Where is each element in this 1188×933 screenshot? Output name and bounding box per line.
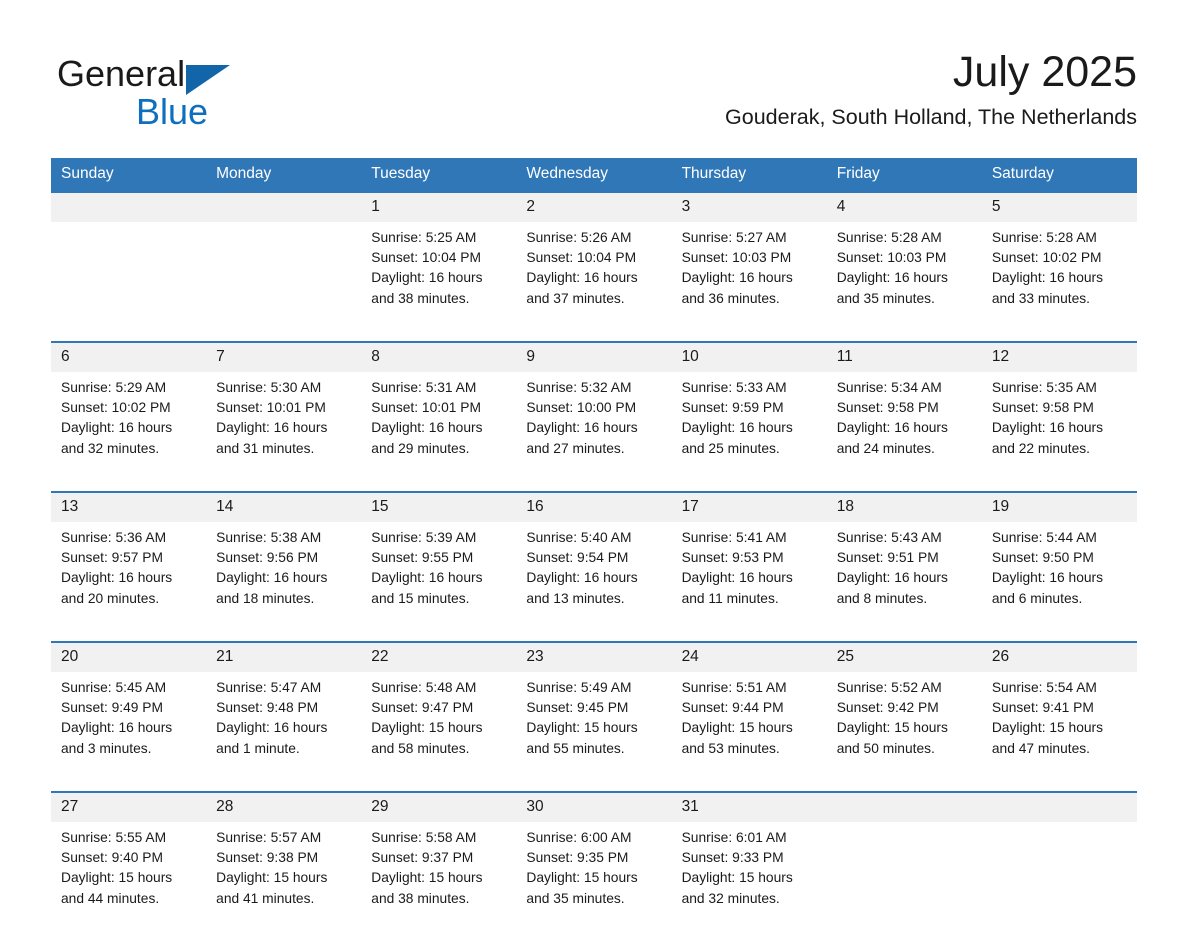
sunset-text: Sunset: 10:02 PM <box>61 398 198 418</box>
sunset-text: Sunset: 9:51 PM <box>837 548 974 568</box>
day-cell[interactable]: Sunrise: 5:33 AMSunset: 9:59 PMDaylight:… <box>672 372 827 483</box>
sunrise-text: Sunrise: 5:51 AM <box>682 678 819 698</box>
daylight-text-line2: and 18 minutes. <box>216 589 353 609</box>
daylight-text-line1: Daylight: 16 hours <box>526 418 663 438</box>
day-cell[interactable]: Sunrise: 5:29 AMSunset: 10:02 PMDaylight… <box>51 372 206 483</box>
day-cell[interactable]: Sunrise: 5:25 AMSunset: 10:04 PMDaylight… <box>361 222 516 333</box>
sunrise-text: Sunrise: 5:54 AM <box>992 678 1129 698</box>
day-number-cell[interactable]: 29 <box>361 793 516 822</box>
day-number-cell[interactable]: 19 <box>982 493 1137 522</box>
day-cell-empty <box>982 822 1137 933</box>
sunrise-text: Sunrise: 5:57 AM <box>216 828 353 848</box>
title-block: July 2025 Gouderak, South Holland, The N… <box>725 44 1137 132</box>
day-cell[interactable]: Sunrise: 5:38 AMSunset: 9:56 PMDaylight:… <box>206 522 361 633</box>
page-title: July 2025 <box>725 44 1137 100</box>
day-cell[interactable]: Sunrise: 5:45 AMSunset: 9:49 PMDaylight:… <box>51 672 206 783</box>
weekday-header-tuesday: Tuesday <box>361 158 516 191</box>
sunset-text: Sunset: 9:44 PM <box>682 698 819 718</box>
day-number-row: 20212223242526 <box>51 643 1137 672</box>
day-cell[interactable]: Sunrise: 5:47 AMSunset: 9:48 PMDaylight:… <box>206 672 361 783</box>
day-number-cell[interactable]: 16 <box>516 493 671 522</box>
daylight-text-line1: Daylight: 16 hours <box>371 568 508 588</box>
sunset-text: Sunset: 10:02 PM <box>992 248 1129 268</box>
daylight-text-line2: and 24 minutes. <box>837 439 974 459</box>
daylight-text-line1: Daylight: 16 hours <box>216 568 353 588</box>
daylight-text-line2: and 22 minutes. <box>992 439 1129 459</box>
day-number-cell-empty <box>51 193 206 222</box>
sunrise-text: Sunrise: 5:28 AM <box>992 228 1129 248</box>
day-number-cell[interactable]: 4 <box>827 193 982 222</box>
sunrise-text: Sunrise: 5:49 AM <box>526 678 663 698</box>
day-cell[interactable]: Sunrise: 5:30 AMSunset: 10:01 PMDaylight… <box>206 372 361 483</box>
daylight-text-line2: and 13 minutes. <box>526 589 663 609</box>
daylight-text-line2: and 36 minutes. <box>682 289 819 309</box>
sunset-text: Sunset: 9:38 PM <box>216 848 353 868</box>
day-detail-row: Sunrise: 5:45 AMSunset: 9:49 PMDaylight:… <box>51 672 1137 783</box>
day-number-cell[interactable]: 25 <box>827 643 982 672</box>
day-number-cell[interactable]: 18 <box>827 493 982 522</box>
sunrise-text: Sunrise: 5:58 AM <box>371 828 508 848</box>
sunrise-text: Sunrise: 5:31 AM <box>371 378 508 398</box>
sunrise-text: Sunrise: 5:25 AM <box>371 228 508 248</box>
sunrise-text: Sunrise: 5:35 AM <box>992 378 1129 398</box>
sunrise-text: Sunrise: 5:48 AM <box>371 678 508 698</box>
day-number-cell[interactable]: 15 <box>361 493 516 522</box>
day-cell[interactable]: Sunrise: 5:34 AMSunset: 9:58 PMDaylight:… <box>827 372 982 483</box>
daylight-text-line1: Daylight: 15 hours <box>526 868 663 888</box>
sunrise-text: Sunrise: 5:45 AM <box>61 678 198 698</box>
daylight-text-line1: Daylight: 16 hours <box>992 418 1129 438</box>
daylight-text-line2: and 37 minutes. <box>526 289 663 309</box>
day-cell[interactable]: Sunrise: 5:54 AMSunset: 9:41 PMDaylight:… <box>982 672 1137 783</box>
day-cell[interactable]: Sunrise: 5:35 AMSunset: 9:58 PMDaylight:… <box>982 372 1137 483</box>
day-number-cell[interactable]: 7 <box>206 343 361 372</box>
weekday-header-wednesday: Wednesday <box>516 158 671 191</box>
day-detail-row: Sunrise: 5:36 AMSunset: 9:57 PMDaylight:… <box>51 522 1137 633</box>
daylight-text-line1: Daylight: 16 hours <box>371 268 508 288</box>
calendar-table: Sunday Monday Tuesday Wednesday Thursday… <box>51 158 1137 933</box>
day-number-cell[interactable]: 6 <box>51 343 206 372</box>
sunset-text: Sunset: 9:57 PM <box>61 548 198 568</box>
daylight-text-line1: Daylight: 16 hours <box>992 568 1129 588</box>
daylight-text-line1: Daylight: 15 hours <box>61 868 198 888</box>
day-number-cell[interactable]: 26 <box>982 643 1137 672</box>
daylight-text-line2: and 33 minutes. <box>992 289 1129 309</box>
daylight-text-line2: and 1 minute. <box>216 739 353 759</box>
daylight-text-line1: Daylight: 16 hours <box>837 568 974 588</box>
sunset-text: Sunset: 10:04 PM <box>371 248 508 268</box>
daylight-text-line2: and 25 minutes. <box>682 439 819 459</box>
daylight-text-line1: Daylight: 16 hours <box>837 268 974 288</box>
day-number-cell[interactable]: 10 <box>672 343 827 372</box>
day-cell[interactable]: Sunrise: 6:01 AMSunset: 9:33 PMDaylight:… <box>672 822 827 933</box>
sunset-text: Sunset: 9:48 PM <box>216 698 353 718</box>
day-cell[interactable]: Sunrise: 5:57 AMSunset: 9:38 PMDaylight:… <box>206 822 361 933</box>
daylight-text-line2: and 15 minutes. <box>371 589 508 609</box>
calendar-body: 12345Sunrise: 5:25 AMSunset: 10:04 PMDay… <box>51 191 1137 933</box>
daylight-text-line2: and 47 minutes. <box>992 739 1129 759</box>
sunrise-text: Sunrise: 6:01 AM <box>682 828 819 848</box>
daylight-text-line2: and 58 minutes. <box>371 739 508 759</box>
day-number-cell[interactable]: 17 <box>672 493 827 522</box>
day-cell[interactable]: Sunrise: 5:41 AMSunset: 9:53 PMDaylight:… <box>672 522 827 633</box>
day-cell[interactable]: Sunrise: 5:52 AMSunset: 9:42 PMDaylight:… <box>827 672 982 783</box>
sunrise-text: Sunrise: 6:00 AM <box>526 828 663 848</box>
daylight-text-line1: Daylight: 15 hours <box>992 718 1129 738</box>
daylight-text-line1: Daylight: 16 hours <box>216 418 353 438</box>
day-cell[interactable]: Sunrise: 5:28 AMSunset: 10:03 PMDaylight… <box>827 222 982 333</box>
day-detail-row: Sunrise: 5:55 AMSunset: 9:40 PMDaylight:… <box>51 822 1137 933</box>
sunrise-text: Sunrise: 5:34 AM <box>837 378 974 398</box>
sunrise-text: Sunrise: 5:29 AM <box>61 378 198 398</box>
day-cell-empty <box>51 222 206 333</box>
daylight-text-line1: Daylight: 16 hours <box>371 418 508 438</box>
daylight-text-line2: and 32 minutes. <box>682 889 819 909</box>
daylight-text-line1: Daylight: 16 hours <box>216 718 353 738</box>
sunset-text: Sunset: 10:03 PM <box>682 248 819 268</box>
daylight-text-line2: and 38 minutes. <box>371 889 508 909</box>
sunset-text: Sunset: 10:04 PM <box>526 248 663 268</box>
day-cell[interactable]: Sunrise: 5:51 AMSunset: 9:44 PMDaylight:… <box>672 672 827 783</box>
sunset-text: Sunset: 10:03 PM <box>837 248 974 268</box>
day-detail-row: Sunrise: 5:25 AMSunset: 10:04 PMDaylight… <box>51 222 1137 333</box>
day-number-cell[interactable]: 14 <box>206 493 361 522</box>
daylight-text-line2: and 11 minutes. <box>682 589 819 609</box>
logo-general-text: General <box>57 53 185 94</box>
week-separator-cell <box>51 483 1137 493</box>
daylight-text-line2: and 20 minutes. <box>61 589 198 609</box>
daylight-text-line2: and 50 minutes. <box>837 739 974 759</box>
day-number-cell[interactable]: 3 <box>672 193 827 222</box>
daylight-text-line1: Daylight: 16 hours <box>682 268 819 288</box>
sunrise-text: Sunrise: 5:33 AM <box>682 378 819 398</box>
day-number-cell[interactable]: 8 <box>361 343 516 372</box>
day-number-cell-empty <box>982 793 1137 822</box>
day-cell[interactable]: Sunrise: 5:55 AMSunset: 9:40 PMDaylight:… <box>51 822 206 933</box>
daylight-text-line2: and 38 minutes. <box>371 289 508 309</box>
sunrise-text: Sunrise: 5:41 AM <box>682 528 819 548</box>
week-separator-cell <box>51 783 1137 793</box>
sunrise-text: Sunrise: 5:39 AM <box>371 528 508 548</box>
sunset-text: Sunset: 9:54 PM <box>526 548 663 568</box>
sunrise-text: Sunrise: 5:27 AM <box>682 228 819 248</box>
week-separator-cell <box>51 633 1137 643</box>
sunrise-text: Sunrise: 5:32 AM <box>526 378 663 398</box>
day-cell[interactable]: Sunrise: 5:43 AMSunset: 9:51 PMDaylight:… <box>827 522 982 633</box>
week-separator <box>51 783 1137 793</box>
daylight-text-line2: and 41 minutes. <box>216 889 353 909</box>
week-separator <box>51 633 1137 643</box>
day-number-cell-empty <box>206 193 361 222</box>
daylight-text-line2: and 55 minutes. <box>526 739 663 759</box>
sunset-text: Sunset: 9:58 PM <box>837 398 974 418</box>
daylight-text-line1: Daylight: 15 hours <box>216 868 353 888</box>
day-number-cell[interactable]: 30 <box>516 793 671 822</box>
day-cell-empty <box>206 222 361 333</box>
day-number-cell[interactable]: 21 <box>206 643 361 672</box>
day-cell-empty <box>827 822 982 933</box>
daylight-text-line2: and 31 minutes. <box>216 439 353 459</box>
daylight-text-line1: Daylight: 15 hours <box>837 718 974 738</box>
daylight-text-line1: Daylight: 16 hours <box>61 718 198 738</box>
week-separator <box>51 333 1137 343</box>
day-number-cell[interactable]: 31 <box>672 793 827 822</box>
sunrise-text: Sunrise: 5:43 AM <box>837 528 974 548</box>
daylight-text-line2: and 35 minutes. <box>526 889 663 909</box>
daylight-text-line1: Daylight: 16 hours <box>61 418 198 438</box>
week-separator <box>51 483 1137 493</box>
day-number-cell[interactable]: 22 <box>361 643 516 672</box>
daylight-text-line2: and 35 minutes. <box>837 289 974 309</box>
weekday-header-sunday: Sunday <box>51 158 206 191</box>
calendar-header-row: Sunday Monday Tuesday Wednesday Thursday… <box>51 158 1137 191</box>
calendar-page: General Blue July 2025 Gouderak, South H… <box>0 0 1188 918</box>
day-cell[interactable]: Sunrise: 5:44 AMSunset: 9:50 PMDaylight:… <box>982 522 1137 633</box>
day-cell[interactable]: Sunrise: 5:26 AMSunset: 10:04 PMDaylight… <box>516 222 671 333</box>
day-number-cell[interactable]: 24 <box>672 643 827 672</box>
daylight-text-line1: Daylight: 16 hours <box>61 568 198 588</box>
sunrise-text: Sunrise: 5:55 AM <box>61 828 198 848</box>
daylight-text-line1: Daylight: 16 hours <box>682 568 819 588</box>
day-number-row: 12345 <box>51 193 1137 222</box>
day-number-cell[interactable]: 28 <box>206 793 361 822</box>
day-number-cell[interactable]: 13 <box>51 493 206 522</box>
sunrise-text: Sunrise: 5:28 AM <box>837 228 974 248</box>
daylight-text-line1: Daylight: 15 hours <box>682 718 819 738</box>
weekday-header-monday: Monday <box>206 158 361 191</box>
sunrise-text: Sunrise: 5:47 AM <box>216 678 353 698</box>
sunset-text: Sunset: 10:01 PM <box>371 398 508 418</box>
daylight-text-line1: Daylight: 15 hours <box>682 868 819 888</box>
logo-blue-text: Blue <box>136 90 208 134</box>
day-cell[interactable]: Sunrise: 5:32 AMSunset: 10:00 PMDaylight… <box>516 372 671 483</box>
daylight-text-line2: and 44 minutes. <box>61 889 198 909</box>
daylight-text-line1: Daylight: 15 hours <box>371 718 508 738</box>
daylight-text-line1: Daylight: 16 hours <box>526 568 663 588</box>
page-subtitle: Gouderak, South Holland, The Netherlands <box>725 102 1137 132</box>
day-cell[interactable]: Sunrise: 5:40 AMSunset: 9:54 PMDaylight:… <box>516 522 671 633</box>
day-number-row: 2728293031 <box>51 793 1137 822</box>
day-number-cell[interactable]: 5 <box>982 193 1137 222</box>
daylight-text-line1: Daylight: 16 hours <box>526 268 663 288</box>
day-number-row: 13141516171819 <box>51 493 1137 522</box>
sunrise-text: Sunrise: 5:44 AM <box>992 528 1129 548</box>
daylight-text-line2: and 8 minutes. <box>837 589 974 609</box>
daylight-text-line1: Daylight: 15 hours <box>371 868 508 888</box>
daylight-text-line2: and 6 minutes. <box>992 589 1129 609</box>
daylight-text-line2: and 29 minutes. <box>371 439 508 459</box>
sunset-text: Sunset: 9:47 PM <box>371 698 508 718</box>
day-cell[interactable]: Sunrise: 5:58 AMSunset: 9:37 PMDaylight:… <box>361 822 516 933</box>
day-cell[interactable]: Sunrise: 5:39 AMSunset: 9:55 PMDaylight:… <box>361 522 516 633</box>
daylight-text-line1: Daylight: 15 hours <box>526 718 663 738</box>
sunset-text: Sunset: 9:49 PM <box>61 698 198 718</box>
day-number-cell[interactable]: 20 <box>51 643 206 672</box>
daylight-text-line1: Daylight: 16 hours <box>682 418 819 438</box>
sunset-text: Sunset: 9:41 PM <box>992 698 1129 718</box>
day-cell[interactable]: Sunrise: 5:36 AMSunset: 9:57 PMDaylight:… <box>51 522 206 633</box>
day-number-cell[interactable]: 23 <box>516 643 671 672</box>
day-cell[interactable]: Sunrise: 5:31 AMSunset: 10:01 PMDaylight… <box>361 372 516 483</box>
sunset-text: Sunset: 10:01 PM <box>216 398 353 418</box>
sunrise-text: Sunrise: 5:36 AM <box>61 528 198 548</box>
day-number-cell[interactable]: 9 <box>516 343 671 372</box>
sunset-text: Sunset: 9:56 PM <box>216 548 353 568</box>
general-blue-logo: General Blue <box>57 52 357 142</box>
sunset-text: Sunset: 9:50 PM <box>992 548 1129 568</box>
day-number-cell[interactable]: 2 <box>516 193 671 222</box>
daylight-text-line2: and 32 minutes. <box>61 439 198 459</box>
page-header: General Blue July 2025 Gouderak, South H… <box>51 44 1137 148</box>
day-cell[interactable]: Sunrise: 5:27 AMSunset: 10:03 PMDaylight… <box>672 222 827 333</box>
sunrise-text: Sunrise: 5:30 AM <box>216 378 353 398</box>
weekday-header-thursday: Thursday <box>672 158 827 191</box>
sunset-text: Sunset: 9:35 PM <box>526 848 663 868</box>
daylight-text-line1: Daylight: 16 hours <box>992 268 1129 288</box>
daylight-text-line1: Daylight: 16 hours <box>837 418 974 438</box>
sunset-text: Sunset: 10:00 PM <box>526 398 663 418</box>
sunrise-text: Sunrise: 5:38 AM <box>216 528 353 548</box>
weekday-header-friday: Friday <box>827 158 982 191</box>
day-detail-row: Sunrise: 5:29 AMSunset: 10:02 PMDaylight… <box>51 372 1137 483</box>
day-cell[interactable]: Sunrise: 6:00 AMSunset: 9:35 PMDaylight:… <box>516 822 671 933</box>
week-separator-cell <box>51 333 1137 343</box>
day-cell[interactable]: Sunrise: 5:49 AMSunset: 9:45 PMDaylight:… <box>516 672 671 783</box>
day-number-cell[interactable]: 11 <box>827 343 982 372</box>
sunrise-text: Sunrise: 5:26 AM <box>526 228 663 248</box>
weekday-header-saturday: Saturday <box>982 158 1137 191</box>
sunset-text: Sunset: 9:33 PM <box>682 848 819 868</box>
sunset-text: Sunset: 9:59 PM <box>682 398 819 418</box>
day-number-cell[interactable]: 1 <box>361 193 516 222</box>
sunset-text: Sunset: 9:55 PM <box>371 548 508 568</box>
day-number-cell-empty <box>827 793 982 822</box>
day-number-cell[interactable]: 12 <box>982 343 1137 372</box>
sunset-text: Sunset: 9:58 PM <box>992 398 1129 418</box>
day-cell[interactable]: Sunrise: 5:48 AMSunset: 9:47 PMDaylight:… <box>361 672 516 783</box>
sunrise-text: Sunrise: 5:52 AM <box>837 678 974 698</box>
sunset-text: Sunset: 9:37 PM <box>371 848 508 868</box>
sunset-text: Sunset: 9:53 PM <box>682 548 819 568</box>
sunrise-text: Sunrise: 5:40 AM <box>526 528 663 548</box>
sunset-text: Sunset: 9:45 PM <box>526 698 663 718</box>
daylight-text-line2: and 53 minutes. <box>682 739 819 759</box>
sunset-text: Sunset: 9:40 PM <box>61 848 198 868</box>
daylight-text-line2: and 27 minutes. <box>526 439 663 459</box>
day-number-cell[interactable]: 27 <box>51 793 206 822</box>
daylight-text-line2: and 3 minutes. <box>61 739 198 759</box>
day-number-row: 6789101112 <box>51 343 1137 372</box>
sunset-text: Sunset: 9:42 PM <box>837 698 974 718</box>
day-cell[interactable]: Sunrise: 5:28 AMSunset: 10:02 PMDaylight… <box>982 222 1137 333</box>
